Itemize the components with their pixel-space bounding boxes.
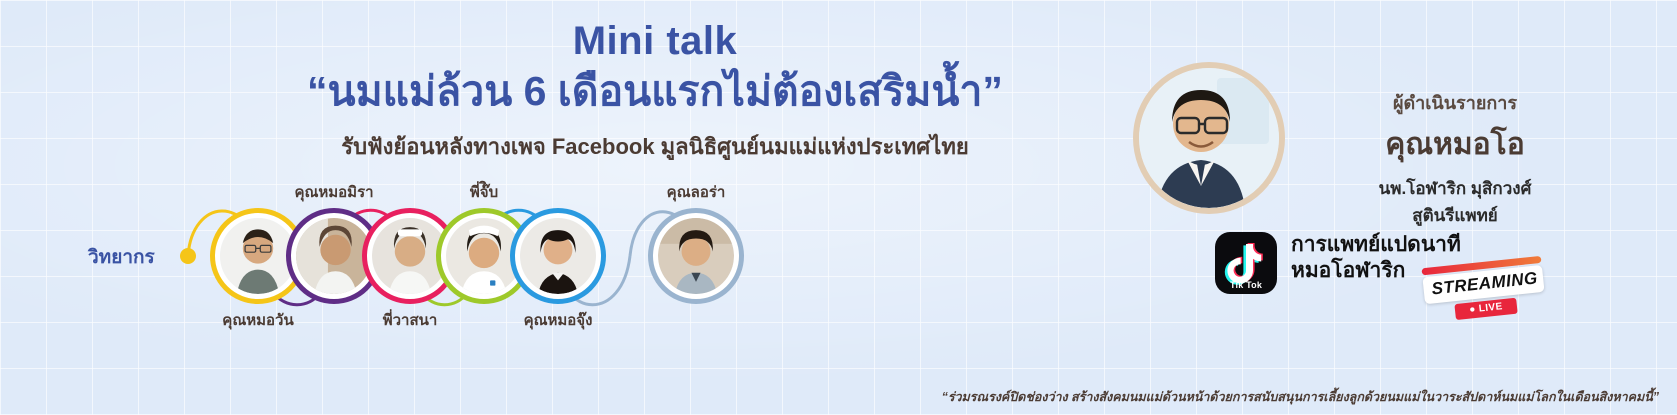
speaker-name-6: คุณลอร่า <box>667 180 726 204</box>
host-real-name: นพ.โอฬาริก มุสิกวงศ์ <box>1290 175 1620 202</box>
speaker-name-3: พี่วาสนา <box>383 308 438 332</box>
speaker-photo-1 <box>220 218 296 294</box>
speaker-inner-ring-5 <box>517 215 599 297</box>
tiktok-icon[interactable]: Tik Tok <box>1215 232 1277 294</box>
host-role-label: ผู้ดำเนินรายการ <box>1290 88 1620 117</box>
speaker-avatar-5[interactable]: คุณหมอจุ๊ง <box>510 208 606 304</box>
footer-note: “ร่วมรณรงค์ปิดช่องว่าง สร้างสังคมนมแม่ด้… <box>942 387 1659 407</box>
speaker-name-2: คุณหมอมิรา <box>294 180 373 204</box>
speakers-section: วิทยากร <box>70 180 1130 335</box>
speaker-name-5: คุณหมอจุ๊ง <box>524 308 593 332</box>
headline-block: Mini talk “นมแม่ล้วน 6 เดือนแรกไม่ต้องเส… <box>150 18 1160 164</box>
host-avatar[interactable] <box>1133 62 1285 214</box>
tiktok-wordmark: Tik Tok <box>1215 280 1277 290</box>
host-nickname: คุณหมอโอ <box>1290 121 1620 168</box>
title-mini-talk: Mini talk <box>150 18 1160 64</box>
streaming-badge: STREAMING ● LIVE <box>1421 256 1546 323</box>
subtitle-facebook: รับฟังย้อนหลังทางเพจ Facebook มูลนิธิศูน… <box>150 129 1160 164</box>
host-photo-image <box>1139 68 1279 208</box>
live-badge: ● LIVE <box>1454 298 1517 320</box>
title-thai-quote: “นมแม่ล้วน 6 เดือนแรกไม่ต้องเสริมน้ำ” <box>150 66 1160 117</box>
host-specialty: สูตินรีแพทย์ <box>1290 202 1620 229</box>
speaker-inner-ring-6 <box>655 215 737 297</box>
streaming-badge-word: STREAMING <box>1431 269 1537 300</box>
host-info-block: ผู้ดำเนินรายการ คุณหมอโอ นพ.โอฬาริก มุสิ… <box>1290 88 1620 229</box>
speaker-avatar-6[interactable]: คุณลอร่า <box>648 208 744 304</box>
speaker-name-4: พี่จ๊ิบ <box>470 180 498 204</box>
speaker-photo-6 <box>658 218 734 294</box>
speaker-photo-5 <box>520 218 596 294</box>
promo-banner: Mini talk “นมแม่ล้วน 6 เดือนแรกไม่ต้องเส… <box>0 0 1677 415</box>
channel-name-line1: การแพทย์แปดนาที <box>1291 232 1461 258</box>
speaker-name-1: คุณหมอวัน <box>222 308 293 332</box>
speaker-photo-2 <box>296 218 372 294</box>
